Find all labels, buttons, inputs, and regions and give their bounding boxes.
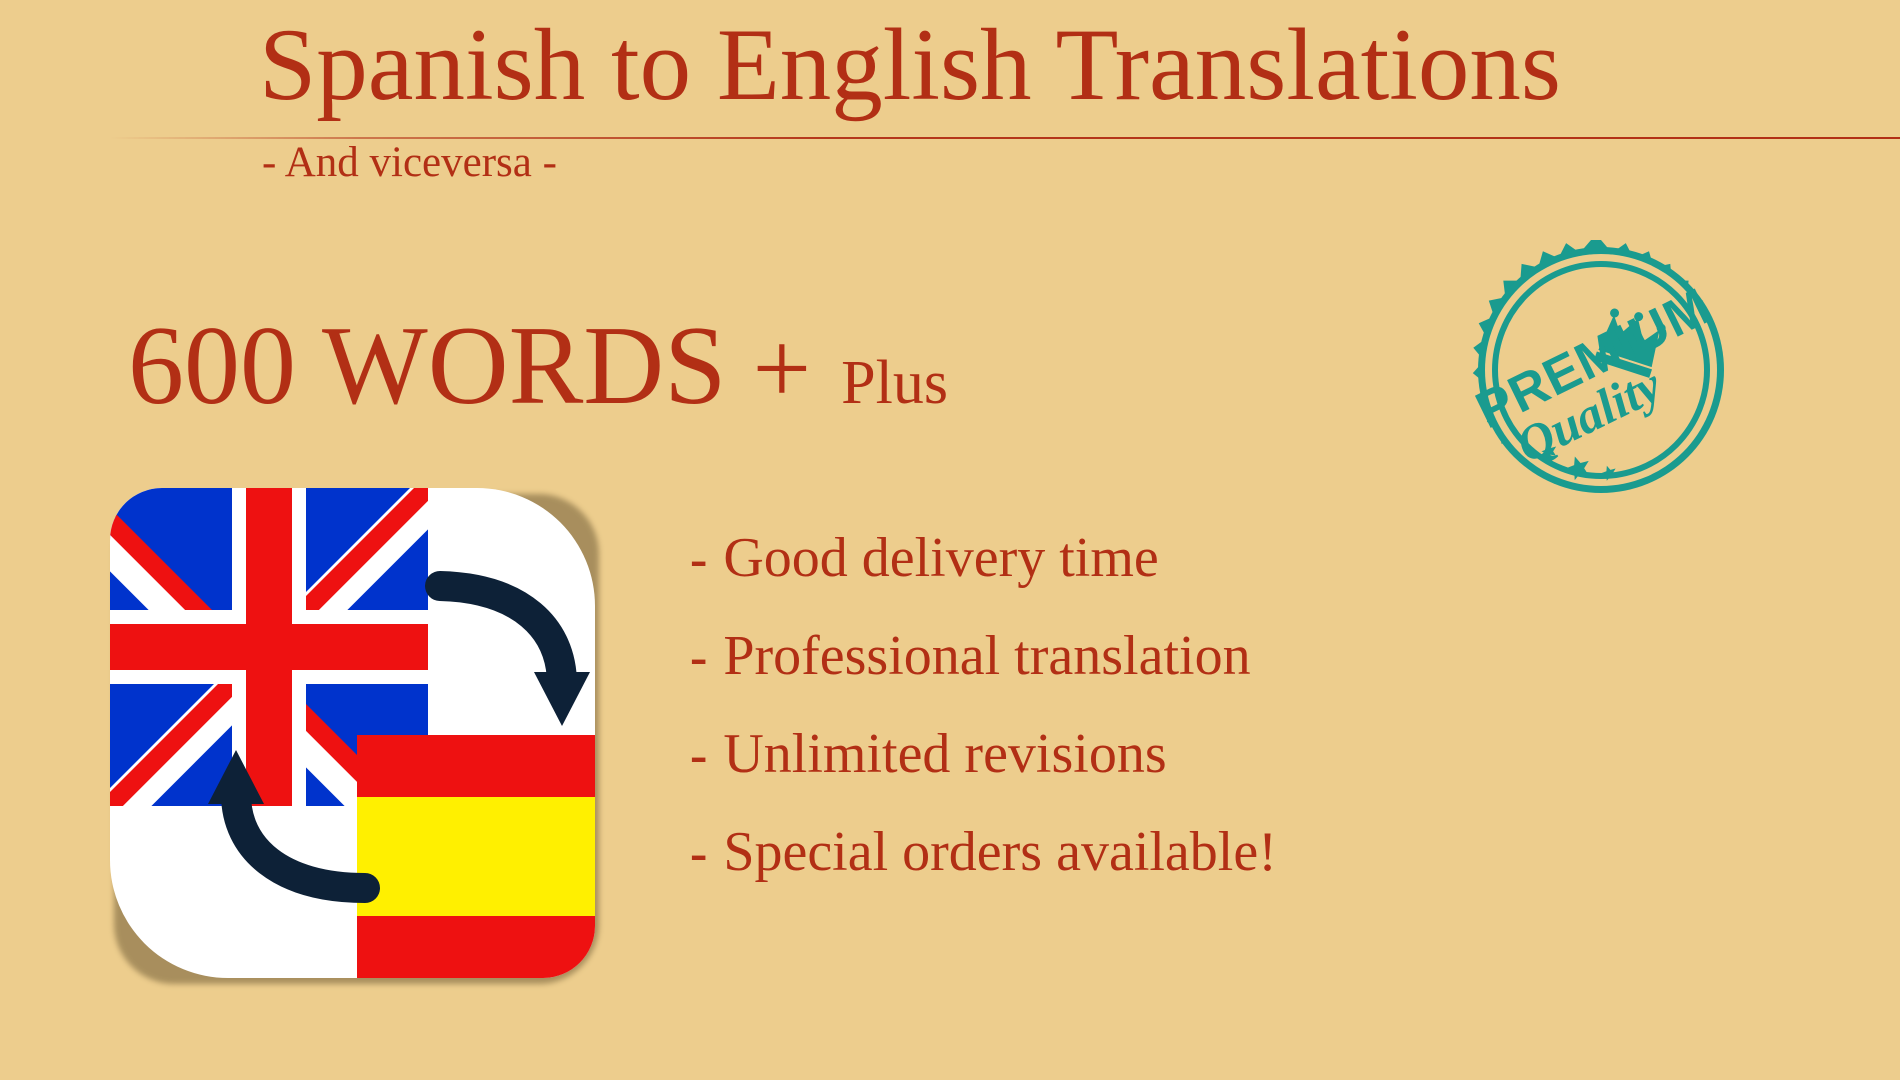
offer-headline: 600 WORDS + Plus bbox=[128, 310, 948, 422]
list-item: - Special orders available! bbox=[690, 824, 1590, 880]
feature-label: Special orders available! bbox=[723, 824, 1277, 880]
list-item: - Professional translation bbox=[690, 628, 1590, 684]
feature-label: Professional translation bbox=[723, 628, 1250, 684]
bullet-dash: - bbox=[690, 632, 707, 684]
feature-list: - Good delivery time - Professional tran… bbox=[690, 530, 1590, 922]
bullet-dash: - bbox=[690, 534, 707, 586]
uk-cross-red-horizontal bbox=[110, 624, 428, 670]
list-item: - Good delivery time bbox=[690, 530, 1590, 586]
plus-label: Plus bbox=[841, 352, 948, 414]
bullet-dash: - bbox=[690, 828, 707, 880]
page-subtitle: - And viceversa - bbox=[262, 138, 557, 187]
page-title: Spanish to English Translations bbox=[0, 8, 1820, 123]
header-block: Spanish to English Translations - And vi… bbox=[0, 0, 1900, 200]
promo-poster: Spanish to English Translations - And vi… bbox=[0, 0, 1900, 1080]
list-item: - Unlimited revisions bbox=[690, 726, 1590, 782]
plus-sign: + bbox=[752, 317, 811, 421]
spain-flag-icon bbox=[357, 735, 595, 978]
word-count-value: 600 WORDS bbox=[128, 310, 726, 422]
translation-flags-icon bbox=[110, 488, 595, 978]
bullet-dash: - bbox=[690, 730, 707, 782]
premium-quality-badge: PREMIUM Quality bbox=[1460, 238, 1742, 520]
flags-card-surface bbox=[110, 488, 595, 978]
feature-label: Unlimited revisions bbox=[723, 726, 1166, 782]
feature-label: Good delivery time bbox=[723, 530, 1158, 586]
